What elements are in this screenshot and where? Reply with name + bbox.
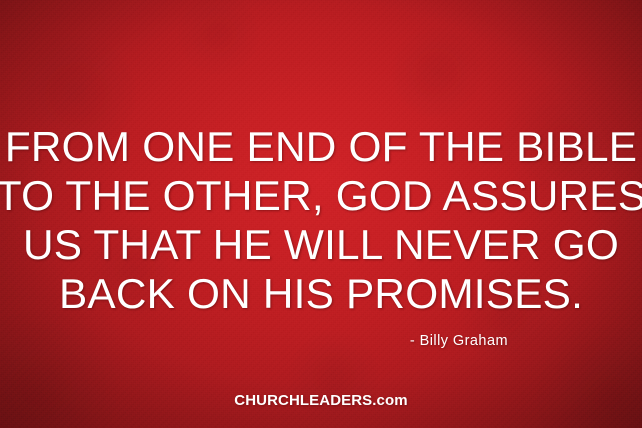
- quote-attribution: - Billy Graham: [0, 331, 508, 351]
- quote-text-block: FROM ONE END OF THE BIBLE TO THE OTHER, …: [0, 122, 642, 318]
- quote-line-1: FROM ONE END OF THE BIBLE: [0, 122, 642, 171]
- quote-line-3: US THAT HE WILL NEVER GO: [0, 220, 642, 269]
- quote-line-2: TO THE OTHER, GOD ASSURES: [0, 171, 642, 220]
- poster-content: FROM ONE END OF THE BIBLE TO THE OTHER, …: [0, 0, 642, 428]
- quote-poster: FROM ONE END OF THE BIBLE TO THE OTHER, …: [0, 0, 642, 428]
- logo-tld: .com: [372, 392, 407, 409]
- churchleaders-logo: CHURCHLEADERS.com: [0, 392, 642, 410]
- quote-line-4: BACK ON HIS PROMISES.: [0, 269, 642, 318]
- logo-brand-name: CHURCHLEADERS: [234, 392, 372, 409]
